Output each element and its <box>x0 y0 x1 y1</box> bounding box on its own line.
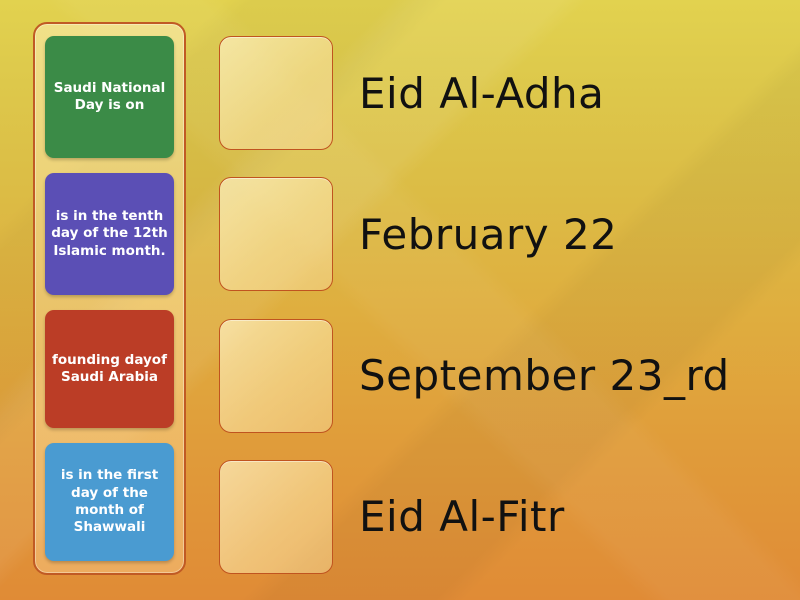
answer-label: Eid Al-Fitr <box>359 492 565 541</box>
drag-tile-first-day-shawwali[interactable]: is in the first day of the month of Shaw… <box>45 443 174 561</box>
drag-tile-label: founding dayof Saudi Arabia <box>51 352 168 387</box>
answer-row: Eid Al-Fitr <box>219 455 779 579</box>
answer-label: Eid Al-Adha <box>359 69 604 118</box>
answer-label: February 22 <box>359 210 617 259</box>
answer-row: February 22 <box>219 172 779 296</box>
drag-tile-label: is in the tenth day of the 12th Islamic … <box>51 208 168 260</box>
answer-label: September 23_rd <box>359 351 730 400</box>
drag-tile-founding-day[interactable]: founding dayof Saudi Arabia <box>45 310 174 428</box>
drag-tile-tenth-day[interactable]: is in the tenth day of the 12th Islamic … <box>45 173 174 295</box>
answer-row: September 23_rd <box>219 314 779 438</box>
drop-target-february-22[interactable] <box>219 177 333 291</box>
drag-tile-saudi-national-day[interactable]: Saudi National Day is on <box>45 36 174 158</box>
answer-row: Eid Al-Adha <box>219 31 779 155</box>
drag-tile-label: is in the first day of the month of Shaw… <box>51 467 168 536</box>
drop-target-eid-al-adha[interactable] <box>219 36 333 150</box>
drop-target-eid-al-fitr[interactable] <box>219 460 333 574</box>
drop-target-september-23[interactable] <box>219 319 333 433</box>
drag-tiles-panel: Saudi National Day is on is in the tenth… <box>33 22 186 575</box>
drag-tile-label: Saudi National Day is on <box>51 80 168 115</box>
answer-rows-container: Eid Al-Adha February 22 September 23_rd … <box>219 31 779 579</box>
